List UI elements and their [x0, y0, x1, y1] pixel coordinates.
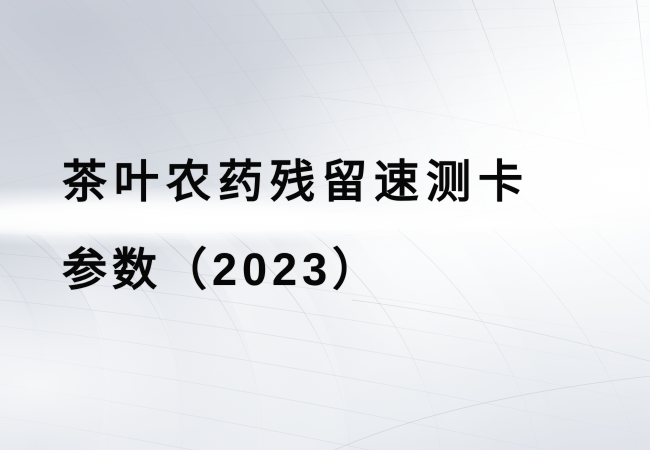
- title-line-1: 茶叶农药残留速测卡: [62, 138, 602, 226]
- poster-title: 茶叶农药残留速测卡 参数（2023）: [62, 138, 602, 314]
- poster-canvas: 茶叶农药残留速测卡 参数（2023）: [0, 0, 650, 450]
- title-line-2: 参数（2023）: [62, 226, 602, 314]
